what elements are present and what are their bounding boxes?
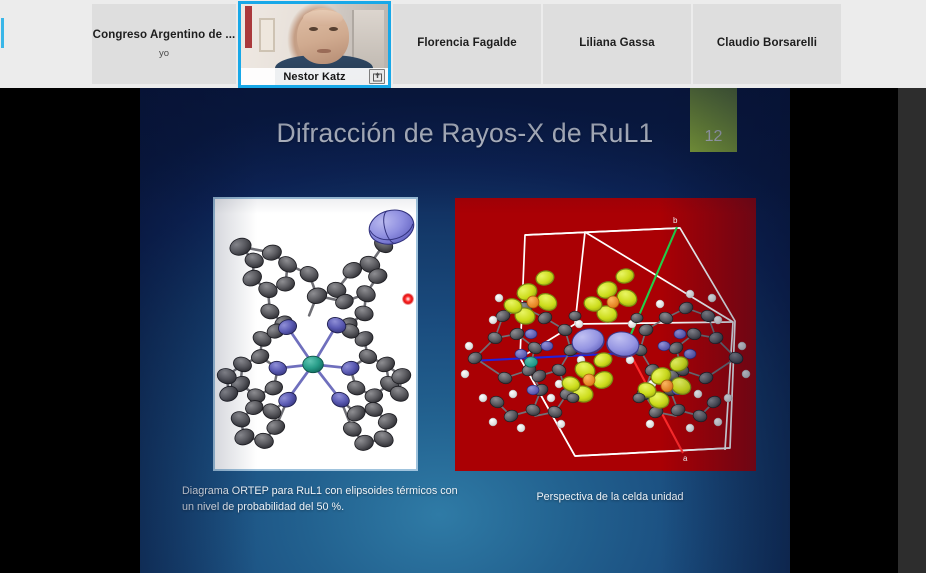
speaker-forehead [303, 10, 343, 26]
participant-tile-congreso[interactable]: Congreso Argentino de ... yo [92, 4, 236, 84]
svg-text:a: a [683, 454, 688, 463]
left-figure-caption: Diagrama ORTEP para RuL1 con elipsoides … [182, 484, 472, 515]
participant-name: Florencia Fagalde [417, 37, 516, 51]
participant-tile-liliana-gassa[interactable]: Liliana Gassa [543, 4, 691, 84]
background-picture-frame [259, 18, 275, 52]
speaker-eye-left [309, 27, 318, 31]
stage-right-gutter [898, 88, 926, 573]
presentation-stage: Difracción de Rayos-X de RuL1 12 [0, 88, 926, 573]
participant-tile-nestor-katz-active[interactable]: Nestor Katz [238, 1, 391, 88]
active-speaker-name-bar: Nestor Katz [241, 68, 388, 85]
background-red-strip [245, 6, 252, 48]
laser-pointer-dot [402, 293, 414, 305]
participant-tile-claudio-borsarelli[interactable]: Claudio Borsarelli [693, 4, 841, 84]
share-screen-icon[interactable] [369, 69, 385, 84]
participant-name: Congreso Argentino de ... [93, 29, 236, 43]
participant-name: Liliana Gassa [579, 37, 654, 51]
screen: Congreso Argentino de ... yo Nestor Katz [0, 0, 926, 573]
active-speaker-name: Nestor Katz [283, 71, 345, 83]
speaker-mouth [317, 49, 331, 53]
shared-slide[interactable]: Difracción de Rayos-X de RuL1 12 [140, 88, 790, 573]
svg-text:b: b [673, 216, 678, 225]
slide-page-number: 12 [705, 128, 723, 146]
ortep-diagram-image [213, 197, 418, 471]
speaker-eye-right [329, 27, 338, 31]
participant-tile-florencia-fagalde[interactable]: Florencia Fagalde [393, 4, 541, 84]
participant-name: Claudio Borsarelli [717, 37, 817, 51]
video-filmstrip: Congreso Argentino de ... yo Nestor Katz [0, 0, 926, 88]
right-figure-caption: Perspectiva de la celda unidad [470, 490, 750, 506]
unit-cell-image: b a [455, 198, 756, 471]
strip-accent-bar [1, 18, 4, 48]
participant-sublabel: yo [159, 48, 169, 59]
slide-page-badge: 12 [690, 88, 737, 152]
